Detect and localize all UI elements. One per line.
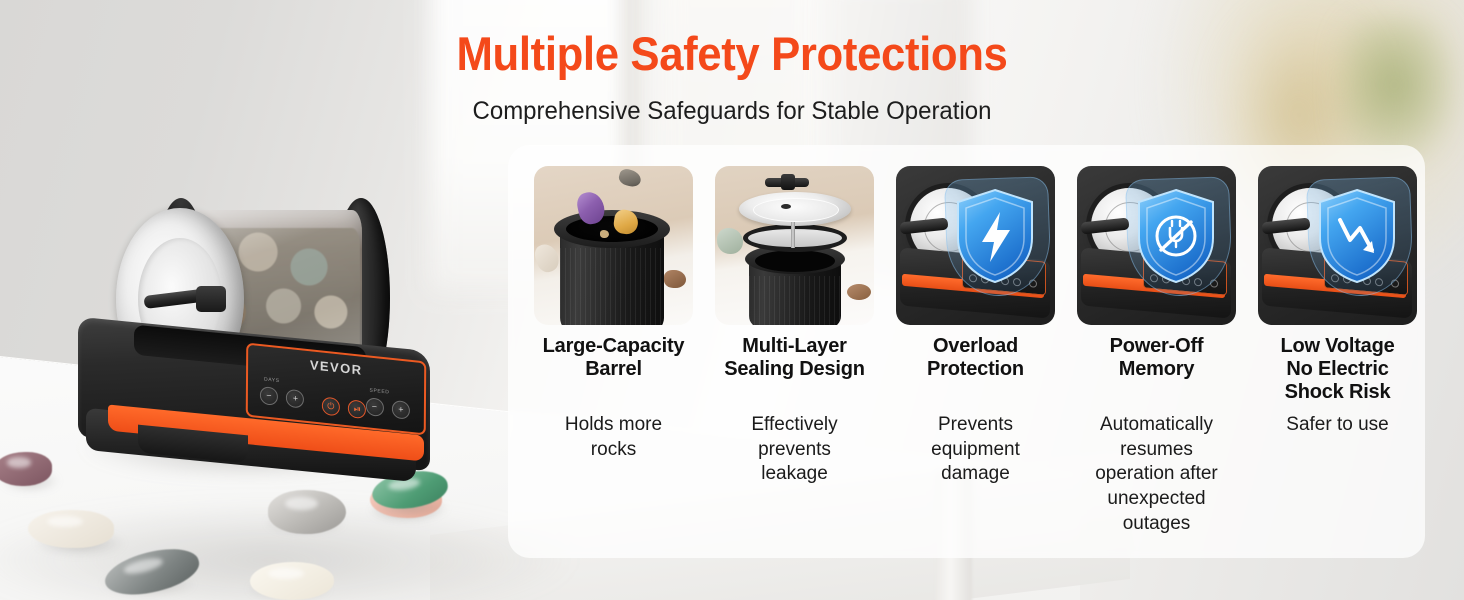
shield-descending-arrow-icon	[1258, 166, 1417, 325]
shield-shape	[954, 188, 1036, 284]
days-control-group: DAYS − +	[260, 386, 309, 414]
days-plus-button[interactable]: +	[286, 389, 304, 409]
feature-card-description: Prevents equipment damage	[883, 413, 1068, 487]
power-icon[interactable]: ⏻	[322, 397, 340, 417]
feature-card-description: Holds more rocks	[521, 413, 706, 462]
feature-card-title: Power-Off Memory	[1066, 335, 1247, 381]
layered-lid-icon	[715, 166, 874, 325]
shield-shape	[1135, 188, 1217, 284]
feature-card-overload-protection[interactable]: Overload Protection Prevents equipment d…	[885, 145, 1066, 558]
rock-tumbler-product: VEVOR DAYS − + ⏻ ⏯ SPEED − +	[68, 186, 438, 506]
feature-card-title: Low Voltage No Electric Shock Risk	[1247, 335, 1428, 405]
speed-label: SPEED	[370, 388, 390, 396]
speed-control-group: SPEED − +	[365, 397, 414, 425]
polished-stone	[0, 452, 52, 486]
feature-card-title: Multi-Layer Sealing Design	[704, 335, 885, 381]
feature-card-description: Automatically resumes operation after un…	[1064, 413, 1249, 536]
product-feature-banner: VEVOR DAYS − + ⏻ ⏯ SPEED − +	[0, 0, 1464, 600]
feature-card-description: Safer to use	[1245, 413, 1430, 438]
play-pause-icon[interactable]: ⏯	[348, 399, 366, 419]
polished-stone	[28, 510, 114, 548]
page-title: Multiple Safety Protections	[51, 30, 1413, 77]
feature-card-title: Overload Protection	[885, 335, 1066, 381]
barrel-with-rocks-icon	[534, 166, 693, 325]
shield-lightning-bolt-icon	[896, 166, 1055, 325]
days-minus-button[interactable]: −	[260, 386, 278, 406]
feature-card-low-voltage-no-electric-shock-risk[interactable]: Low Voltage No Electric Shock Risk Safer…	[1247, 145, 1428, 558]
days-label: DAYS	[264, 376, 280, 384]
power-control-group: ⏻ ⏯	[322, 397, 371, 425]
feature-card-large-capacity-barrel[interactable]: Large-Capacity Barrel Holds more rocks	[523, 145, 704, 558]
feature-card-multi-layer-sealing-design[interactable]: Multi-Layer Sealing Design Effectively p…	[704, 145, 885, 558]
polished-stone	[250, 562, 334, 600]
feature-card-list: Large-Capacity Barrel Holds more rocks M…	[508, 145, 1425, 558]
page-subtitle: Comprehensive Safeguards for Stable Oper…	[29, 97, 1434, 126]
feature-card-power-off-memory[interactable]: Power-Off Memory Automatically resumes o…	[1066, 145, 1247, 558]
barrel-lock-knob	[144, 286, 236, 310]
speed-minus-button[interactable]: −	[365, 397, 383, 417]
tumbler-base: VEVOR DAYS − + ⏻ ⏯ SPEED − +	[78, 334, 430, 484]
feature-card-description: Effectively prevents leakage	[702, 413, 887, 487]
shield-no-plug-icon	[1077, 166, 1236, 325]
feature-card-title: Large-Capacity Barrel	[523, 335, 704, 381]
speed-plus-button[interactable]: +	[392, 400, 410, 420]
shield-shape	[1316, 188, 1398, 284]
